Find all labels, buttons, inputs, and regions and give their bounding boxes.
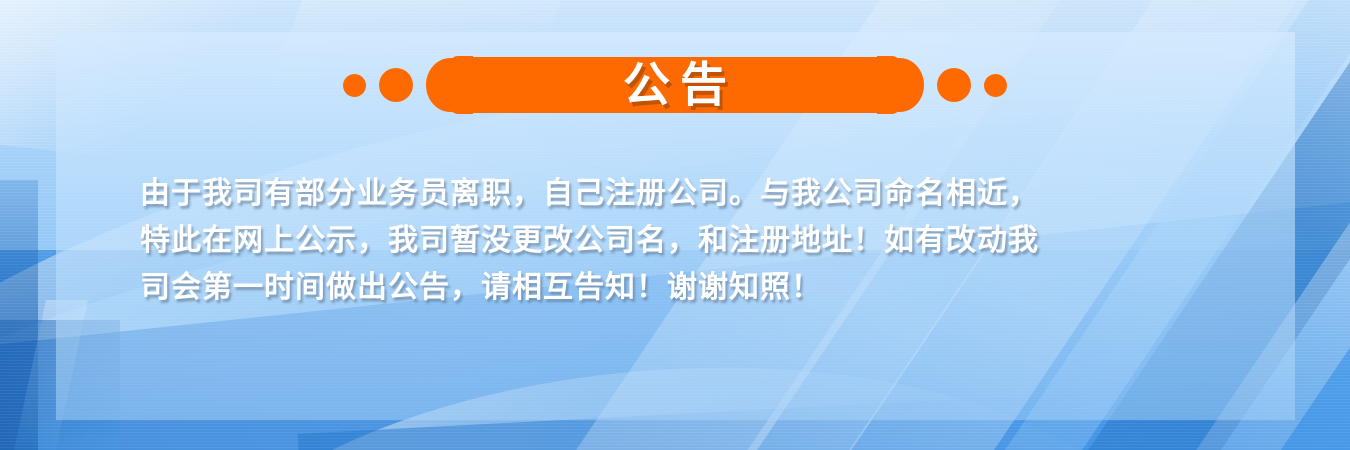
small-dot-icon	[984, 74, 1007, 97]
background-shard-left-2	[14, 300, 88, 450]
announcement-line: 由于我司有部分业务员离职，自己注册公司。与我公司命名相近，	[140, 170, 1230, 217]
background-shard-left-1	[0, 180, 38, 450]
medium-dot-icon	[379, 68, 413, 102]
page-title: 公告	[613, 62, 737, 109]
ribbon-bar: 公告	[465, 57, 885, 113]
announcement-banner: 公告 由于我司有部分业务员离职，自己注册公司。与我公司命名相近， 特此在网上公示…	[0, 0, 1350, 450]
medium-dot-icon	[937, 68, 971, 102]
title-ribbon: 公告	[0, 54, 1350, 116]
announcement-line: 司会第一时间做出公告，请相互告知！谢谢知照！	[140, 264, 1230, 311]
background-shard-left-3	[0, 320, 120, 450]
background-curve-light	[153, 335, 1167, 450]
small-dot-icon	[343, 74, 366, 97]
announcement-line: 特此在网上公示，我司暂没更改公司名，和注册地址！如有改动我	[140, 217, 1230, 264]
announcement-body: 由于我司有部分业务员离职，自己注册公司。与我公司命名相近， 特此在网上公示，我司…	[140, 170, 1230, 311]
background-curve-deep	[298, 376, 1350, 450]
